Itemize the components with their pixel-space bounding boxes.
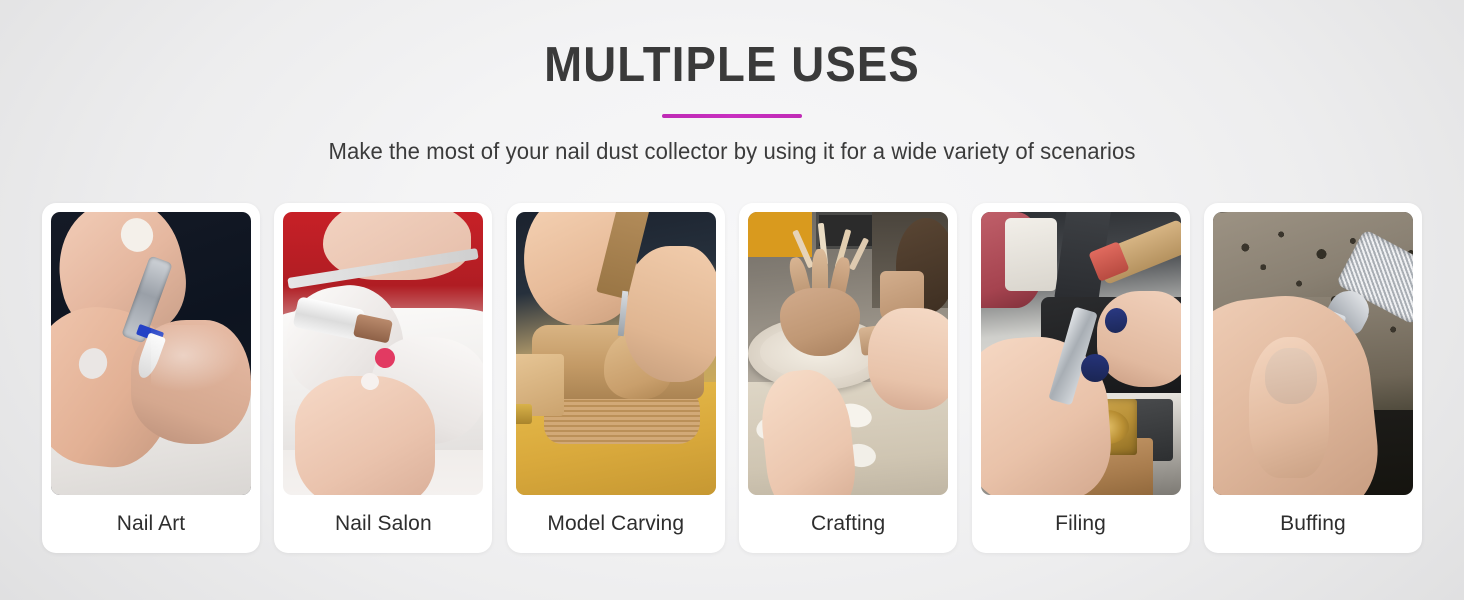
use-case-card-nail-art[interactable]: Nail Art	[42, 203, 260, 553]
model-carving-photo	[516, 212, 716, 495]
multiple-uses-banner: MULTIPLE USES Make the most of your nail…	[0, 0, 1464, 600]
page-subtitle: Make the most of your nail dust collecto…	[29, 138, 1434, 165]
card-label: Buffing	[1280, 495, 1346, 553]
crafting-photo	[748, 212, 948, 495]
card-label: Nail Salon	[335, 495, 432, 553]
use-case-card-row: Nail Art Nail Salon	[42, 203, 1422, 553]
title-divider	[662, 114, 802, 118]
card-label: Nail Art	[117, 495, 186, 553]
card-label: Model Carving	[547, 495, 684, 553]
banner-header: MULTIPLE USES Make the most of your nail…	[0, 0, 1464, 165]
card-label: Filing	[1055, 495, 1106, 553]
use-case-card-nail-salon[interactable]: Nail Salon	[274, 203, 492, 553]
nail-art-photo	[51, 212, 251, 495]
use-case-card-crafting[interactable]: Crafting	[739, 203, 957, 553]
use-case-card-buffing[interactable]: Buffing	[1204, 203, 1422, 553]
page-title: MULTIPLE USES	[51, 41, 1413, 90]
buffing-photo	[1213, 212, 1413, 495]
card-label: Crafting	[811, 495, 885, 553]
use-case-card-filing[interactable]: Filing	[972, 203, 1190, 553]
use-case-card-model-carving[interactable]: Model Carving	[507, 203, 725, 553]
filing-photo	[981, 212, 1181, 495]
nail-salon-photo	[283, 212, 483, 495]
